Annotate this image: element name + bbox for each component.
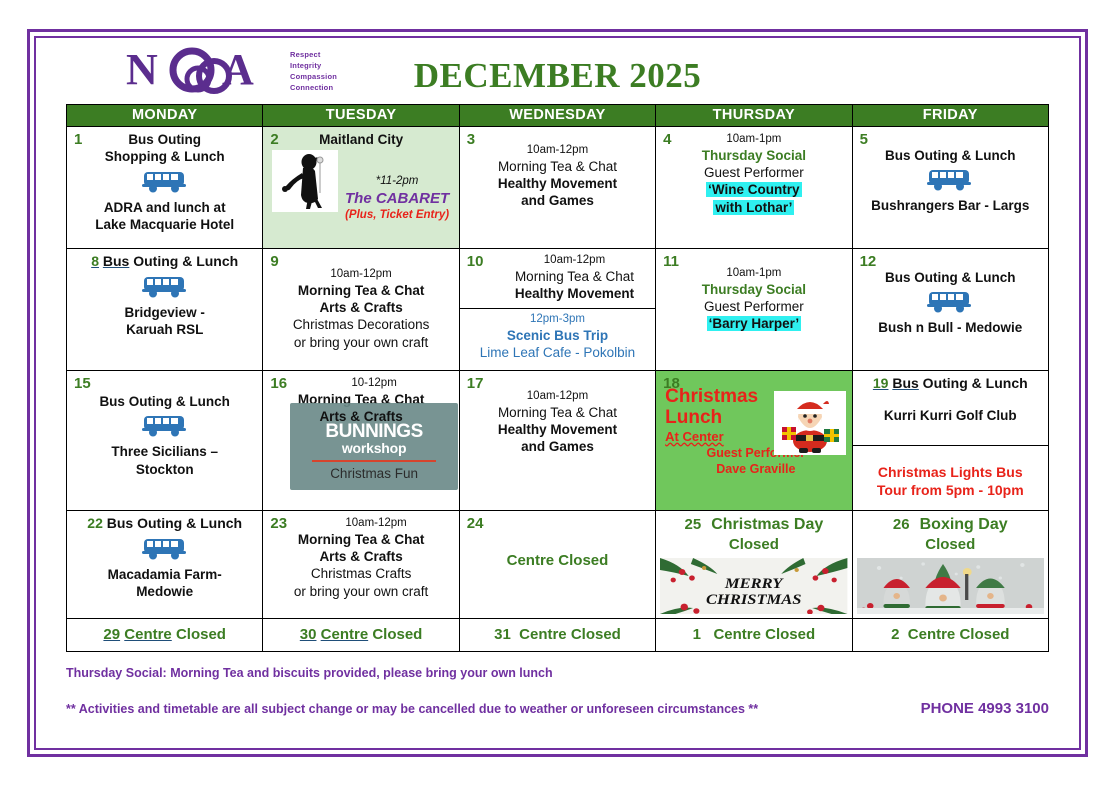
calendar-cell-dec-11[interactable]: 11 10am-1pm Thursday Social Guest Perfor… [656,249,852,371]
event-line-2: Healthy Movement [465,175,650,192]
bunnings-logo-subtext: workshop [296,440,451,458]
event-time: 10am-12pm [268,516,453,531]
calendar-cell-dec-1[interactable]: 1 Bus Outing Shopping & Lunch ADRA and l… [67,127,263,249]
status-text: Closed [660,535,847,554]
event-time: *11-2pm [340,174,453,189]
event-location-line-2: Stockton [72,461,257,478]
svg-text:CHRISTMAS: CHRISTMAS [706,591,802,607]
page-title: DECEMBER 2025 [414,56,702,96]
lights-tour-line-2: Tour from 5pm - 10pm [857,482,1044,500]
weekday-header-thursday: THURSDAY [656,105,852,127]
bunnings-logo-text: BUNNINGS [296,423,451,441]
bus-icon [140,169,190,195]
day-number: 22 [87,515,103,531]
svg-text:MERRY: MERRY [724,575,784,591]
calendar-cell-dec-24[interactable]: 24 Centre Closed [459,511,655,619]
event-line-2: Guest Performer [661,298,846,315]
day-number: 24 [467,514,484,533]
event-caption: Christmas Fun [296,465,451,482]
performer-name-line-1: ‘Wine Country [706,182,801,197]
performer-name-line-2: with Lothar’ [713,200,794,215]
day-number: 2 [891,626,899,643]
event-time: 10am-12pm [499,253,650,268]
event-title: Bus Outing & Lunch [107,515,242,531]
tagline-line-2: Integrity [290,61,337,72]
calendar-week-row-2: 8 Bus Outing & Lunch Bridgeview - Karuah… [67,249,1049,371]
page-header: N A Respect Integrity Compassion Connect… [66,42,1049,104]
ncca-logo-tagline: Respect Integrity Compassion Connection [290,50,337,94]
day-number: 29 [103,626,120,643]
day-number: 26 [893,515,910,534]
event-line-3: Christmas Crafts [268,565,453,582]
status-underlined: Centre [321,626,369,643]
calendar-week-row-3: 15 Bus Outing & Lunch Three Sicilians – … [67,371,1049,511]
calendar-cell-dec-25[interactable]: 25 Christmas Day Closed [656,511,852,619]
calendar-cell-dec-9[interactable]: 9 10am-12pm Morning Tea & Chat Arts & Cr… [263,249,459,371]
event-location-line-2: Lake Macquarie Hotel [72,216,257,233]
bus-icon [925,167,975,193]
calendar-cell-dec-2[interactable]: 2 Maitland City [263,127,459,249]
status-text: Closed [857,535,1044,554]
event-title: Maitland City [268,131,453,148]
day-number: 15 [74,374,91,393]
event-location-line-1: Bridgeview - [72,304,257,321]
event-time: 10am-1pm [661,132,846,147]
calendar-cell-dec-12[interactable]: 12 Bus Outing & Lunch Bush n Bull - Medo… [852,249,1048,371]
calendar-cell-dec-10[interactable]: 10 10am-12pm Morning Tea & Chat Healthy … [459,249,655,371]
calendar-cell-dec-5[interactable]: 5 Bus Outing & Lunch Bushrangers Bar - L… [852,127,1048,249]
santa-claus-image [774,391,846,455]
event-location-line-2: Medowie [72,583,257,600]
status-text: Centre Closed [519,626,621,643]
event-note: (Plus, Ticket Entry) [340,208,453,223]
day-number: 3 [467,130,475,149]
footer-note-thursday-social: Thursday Social: Morning Tea and biscuit… [66,666,1049,680]
event-line-3: and Games [465,192,650,209]
calendar-cell-dec-30[interactable]: 30 Centre Closed [263,619,459,652]
bunnings-logo-rule [312,460,435,462]
status-text: Centre Closed [908,626,1010,643]
status-rest: Closed [172,626,226,643]
day-number: 31 [494,626,511,643]
event-line-1: Morning Tea & Chat [499,268,650,285]
ncca-logo: N A Respect Integrity Compassion Connect… [126,46,337,94]
event-line-1: Morning Tea & Chat [465,404,650,421]
event-subtitle: Shopping & Lunch [72,148,257,165]
event-line-2: Arts & Crafts [268,548,453,565]
event-line-4: or bring your own craft [268,334,453,351]
day-number: 1 [693,626,701,643]
event-line-1: Morning Tea & Chat [268,282,453,299]
event-location-line-1: Three Sicilians – [72,443,257,460]
weekday-header-friday: FRIDAY [852,105,1048,127]
event-line-1: Morning Tea & Chat [465,158,650,175]
event-line-3: Christmas Decorations [268,316,453,333]
bus-icon [140,536,190,562]
status-rest: Closed [368,626,422,643]
calendar-cell-jan-2[interactable]: 2 Centre Closed [852,619,1048,652]
performer-name: ‘Barry Harper’ [707,316,802,331]
event-location-line-2: Karuah RSL [72,321,257,338]
calendar-table: MONDAY TUESDAY WEDNESDAY THURSDAY FRIDAY… [66,104,1049,652]
event-line-2: Healthy Movement [465,421,650,438]
event-line-1: Thursday Social [661,281,846,298]
calendar-cell-dec-3[interactable]: 3 10am-12pm Morning Tea & Chat Healthy M… [459,127,655,249]
event-line-2: Guest Performer [661,164,846,181]
weekday-header-row: MONDAY TUESDAY WEDNESDAY THURSDAY FRIDAY [67,105,1049,127]
event-location-line-1: ADRA and lunch at [72,199,257,216]
footer-note-disclaimer: ** Activities and timetable are all subj… [66,702,758,716]
calendar-cell-dec-15[interactable]: 15 Bus Outing & Lunch Three Sicilians – … [67,371,263,511]
calendar-cell-dec-22[interactable]: 22 Bus Outing & Lunch Macadamia Farm- Me… [67,511,263,619]
day-number: 12 [860,252,877,271]
event-title-underlined: Bus [892,375,918,391]
event-name: The CABARET [340,189,453,208]
day-number: 1 [74,130,82,149]
day-number: 17 [467,374,484,393]
holiday-name: Boxing Day [920,515,1008,535]
tagline-line-4: Connection [290,83,337,94]
lights-tour-line-1: Christmas Lights Bus [857,464,1044,482]
calendar-week-row-5: 29 Centre Closed 30 Centre Closed 31 Cen… [67,619,1049,652]
day-number: 8 [91,253,99,269]
event-line-4: or bring your own craft [268,583,453,600]
event-title: Bus Outing & Lunch [72,393,257,410]
event-line-3: and Games [465,438,650,455]
event-time: 10am-12pm [465,143,650,158]
event-line-2: Healthy Movement [499,285,650,302]
event-location: Bushrangers Bar - Largs [858,197,1043,214]
calendar-cell-dec-16[interactable]: 16 10-12pm Morning Tea & Chat Arts & Cra… [263,371,459,511]
cell-divider [460,308,655,309]
day-number: 19 [873,375,889,391]
calendar-week-row-4: 22 Bus Outing & Lunch Macadamia Farm- Me… [67,511,1049,619]
holiday-name: Christmas Day [711,515,823,535]
bus-icon [140,274,190,300]
calendar-cell-dec-18[interactable]: 18 [656,371,852,511]
weekday-header-wednesday: WEDNESDAY [459,105,655,127]
day-number: 11 [663,252,679,271]
calendar-cell-jan-1[interactable]: 1 Centre Closed [656,619,852,652]
event-line-2: Arts & Crafts [268,299,453,316]
bus-icon [140,413,190,439]
calendar-cell-dec-31[interactable]: 31 Centre Closed [459,619,655,652]
day-number: 2 [270,130,278,149]
event-location: Bush n Bull - Medowie [858,319,1043,336]
status-text: Centre Closed [713,626,815,643]
day-number: 25 [685,515,702,534]
day-number: 23 [270,514,287,533]
footer-phone: PHONE 4993 3100 [921,700,1049,717]
page-footer: Thursday Social: Morning Tea and biscuit… [66,666,1049,717]
bus-trip-location: Lime Leaf Cafe - Pokolbin [465,344,650,361]
tagline-line-3: Compassion [290,72,337,83]
calendar-cell-dec-19[interactable]: 19 Bus Outing & Lunch Kurri Kurri Golf C… [852,371,1048,511]
calendar-cell-dec-17[interactable]: 17 10am-12pm Morning Tea & Chat Healthy … [459,371,655,511]
svg-text:N: N [126,46,158,94]
day-number: 9 [270,252,278,271]
event-title-rest: Outing & Lunch [129,253,238,269]
day-number: 5 [860,130,868,149]
day-number: 16 [270,374,287,393]
calendar-cell-dec-8[interactable]: 8 Bus Outing & Lunch Bridgeview - Karuah… [67,249,263,371]
event-time: 10-12pm [268,376,453,391]
ncca-logo-svg: N A [126,46,286,94]
weekday-header-tuesday: TUESDAY [263,105,459,127]
svg-text:A: A [222,46,254,94]
status-underlined: Centre [124,626,172,643]
event-location-line-1: Macadamia Farm- [72,566,257,583]
event-line-1: Morning Tea & Chat [268,531,453,548]
bus-icon [925,289,975,315]
status-text: Centre Closed [465,551,650,570]
event-title-underlined: Bus [103,253,129,269]
event-time: 10am-1pm [661,266,846,281]
event-line-2: Arts & Crafts [268,408,453,425]
day-number: 18 [663,374,680,393]
day-number: 30 [300,626,317,643]
calendar-cell-dec-23[interactable]: 23 10am-12pm Morning Tea & Chat Arts & C… [263,511,459,619]
event-title-rest: Outing & Lunch [919,375,1028,391]
event-performer-name: Dave Graville [665,461,846,477]
event-time: 10am-12pm [465,389,650,404]
calendar-cell-dec-4[interactable]: 4 10am-1pm Thursday Social Guest Perform… [656,127,852,249]
merry-christmas-image: MERRY CHRISTMAS [660,558,847,614]
weekday-header-monday: MONDAY [67,105,263,127]
calendar-cell-dec-26[interactable]: 26 Boxing Day Closed [852,511,1048,619]
event-title: Bus Outing & Lunch [858,147,1043,164]
tagline-line-1: Respect [290,50,337,61]
cabaret-dancer-image [272,150,338,212]
day-number: 10 [467,252,484,271]
day-number: 4 [663,130,671,149]
ncca-logo-mark: N A [126,46,286,94]
bus-trip-title: Scenic Bus Trip [465,327,650,344]
page-border-frame: N A Respect Integrity Compassion Connect… [27,29,1088,757]
bus-trip-time: 12pm-3pm [465,312,650,327]
event-line-1: Thursday Social [661,147,846,164]
calendar-cell-dec-29[interactable]: 29 Centre Closed [67,619,263,652]
event-location: Kurri Kurri Golf Club [858,407,1043,424]
calendar-week-row-1: 1 Bus Outing Shopping & Lunch ADRA and l… [67,127,1049,249]
christmas-gnomes-image [857,558,1044,614]
event-title: Bus Outing [72,131,257,148]
event-title: Bus Outing & Lunch [858,269,1043,286]
event-time: 10am-12pm [268,267,453,282]
